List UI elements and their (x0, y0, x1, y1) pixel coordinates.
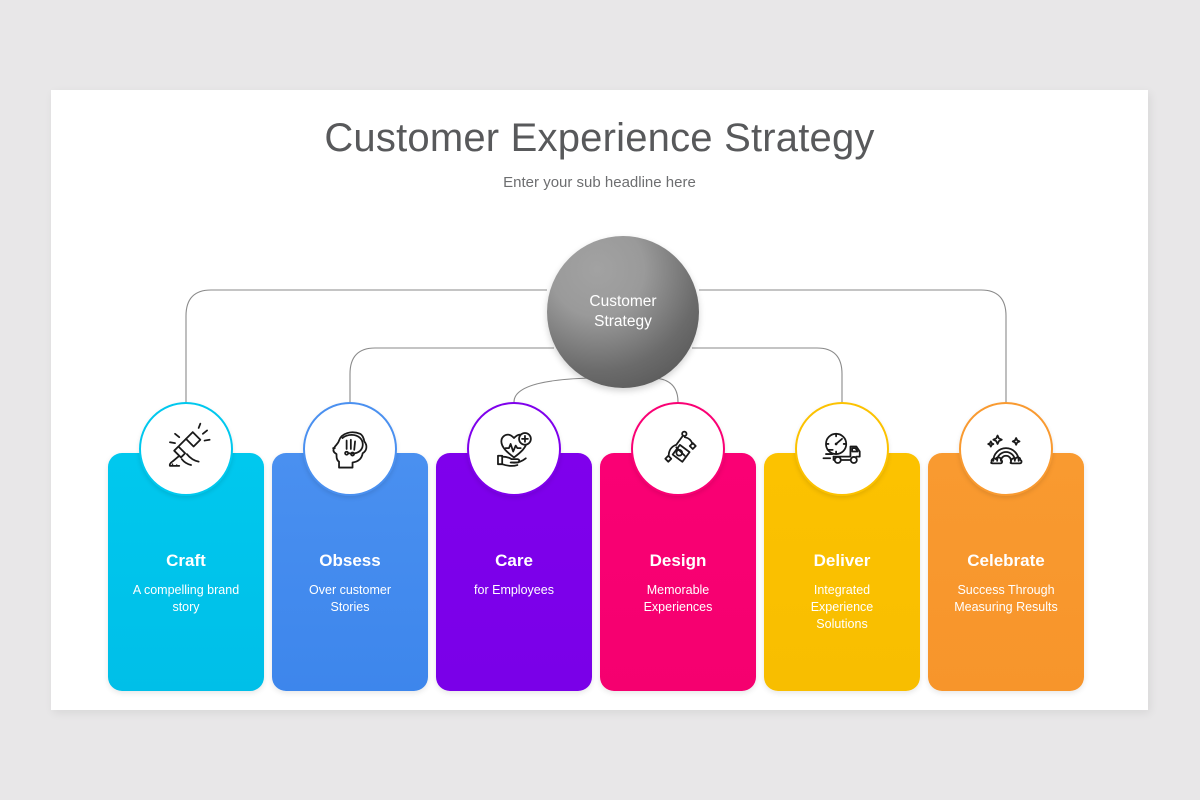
pen-tool-icon[interactable] (631, 402, 725, 496)
hub-label: Customer Strategy (589, 292, 656, 333)
chisel-hand-icon[interactable] (139, 402, 233, 496)
page-title: Customer Experience Strategy (51, 115, 1148, 161)
card-description: A compelling brand story (108, 582, 264, 616)
card-craft[interactable]: Craft A compelling brand story (108, 402, 264, 692)
card-title: Craft (108, 551, 264, 571)
brain-head-icon[interactable] (303, 402, 397, 496)
strategy-cards-row: Craft A compelling brand story (108, 402, 1091, 692)
slide-header: Customer Experience Strategy Enter your … (51, 90, 1148, 191)
card-care[interactable]: Care for Employees (436, 402, 592, 692)
slide-canvas: Customer Experience Strategy Enter your … (51, 90, 1148, 710)
card-description: Success Through Measuring Results (928, 582, 1084, 616)
card-title: Deliver (764, 551, 920, 571)
card-design[interactable]: Design Memorable Experiences (600, 402, 756, 692)
card-description: Integrated Experience Solutions (764, 582, 920, 633)
hub-node[interactable]: Customer Strategy (547, 236, 699, 388)
delivery-truck-speed-icon[interactable] (795, 402, 889, 496)
card-description: Over customer Stories (272, 582, 428, 616)
card-title: Obsess (272, 551, 428, 571)
card-description: for Employees (436, 582, 592, 599)
card-title: Care (436, 551, 592, 571)
rainbow-sparkle-icon[interactable] (959, 402, 1053, 496)
card-celebrate[interactable]: Celebrate Success Through Measuring Resu… (928, 402, 1084, 692)
card-deliver[interactable]: Deliver Integrated Experience Solutions (764, 402, 920, 692)
card-obsess[interactable]: Obsess Over customer Stories (272, 402, 428, 692)
card-description: Memorable Experiences (600, 582, 756, 616)
card-title: Design (600, 551, 756, 571)
page-subtitle: Enter your sub headline here (51, 174, 1148, 191)
card-title: Celebrate (928, 551, 1084, 571)
hand-heart-plus-icon[interactable] (467, 402, 561, 496)
